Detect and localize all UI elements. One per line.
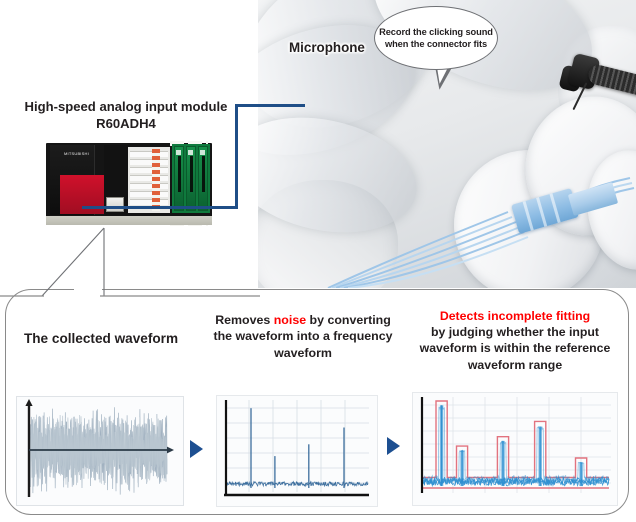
step-2-title-part-1: Removes — [215, 313, 274, 327]
cable-segment-horizontal-lower — [82, 206, 238, 209]
collected-waveform-chart — [16, 396, 184, 506]
module-label-line2: R60ADH4 — [96, 116, 156, 131]
step-3-title: Detects incomplete fitting by judging wh… — [404, 308, 626, 373]
module-label: High-speed analog input module R60ADH4 — [12, 98, 240, 132]
step-3-title-highlight: Detects incomplete fitting — [440, 309, 590, 323]
judgement-waveform-chart — [412, 392, 618, 506]
leader-lines — [0, 210, 260, 310]
frequency-waveform-chart — [216, 395, 378, 507]
step-2-title: Removes noise by converting the waveform… — [210, 312, 396, 361]
panel-top-gap — [74, 286, 102, 294]
step-3: Detects incomplete fitting by judging wh… — [404, 308, 626, 373]
step-2-title-highlight: noise — [274, 313, 306, 327]
flow-arrow-1-icon — [190, 440, 203, 458]
step-2: Removes noise by converting the waveform… — [210, 312, 396, 361]
callout-bubble: Record the clicking sound when the conne… — [374, 6, 498, 70]
flow-arrow-2-icon — [387, 437, 400, 455]
cable-segment-horizontal-upper — [235, 104, 305, 107]
step-3-title-body: by judging whether the input waveform is… — [420, 325, 611, 371]
module-label-line1: High-speed analog input module — [25, 99, 228, 114]
callout-text: Record the clicking sound when the conne… — [375, 26, 497, 51]
step-1: The collected waveform — [12, 330, 190, 348]
step-1-title: The collected waveform — [12, 330, 190, 348]
microphone-label: Microphone — [289, 40, 365, 55]
cable-segment-vertical — [235, 104, 238, 209]
step-1-title-text: The collected waveform — [24, 331, 178, 346]
brand-text: MITSUBISHI — [64, 151, 89, 156]
